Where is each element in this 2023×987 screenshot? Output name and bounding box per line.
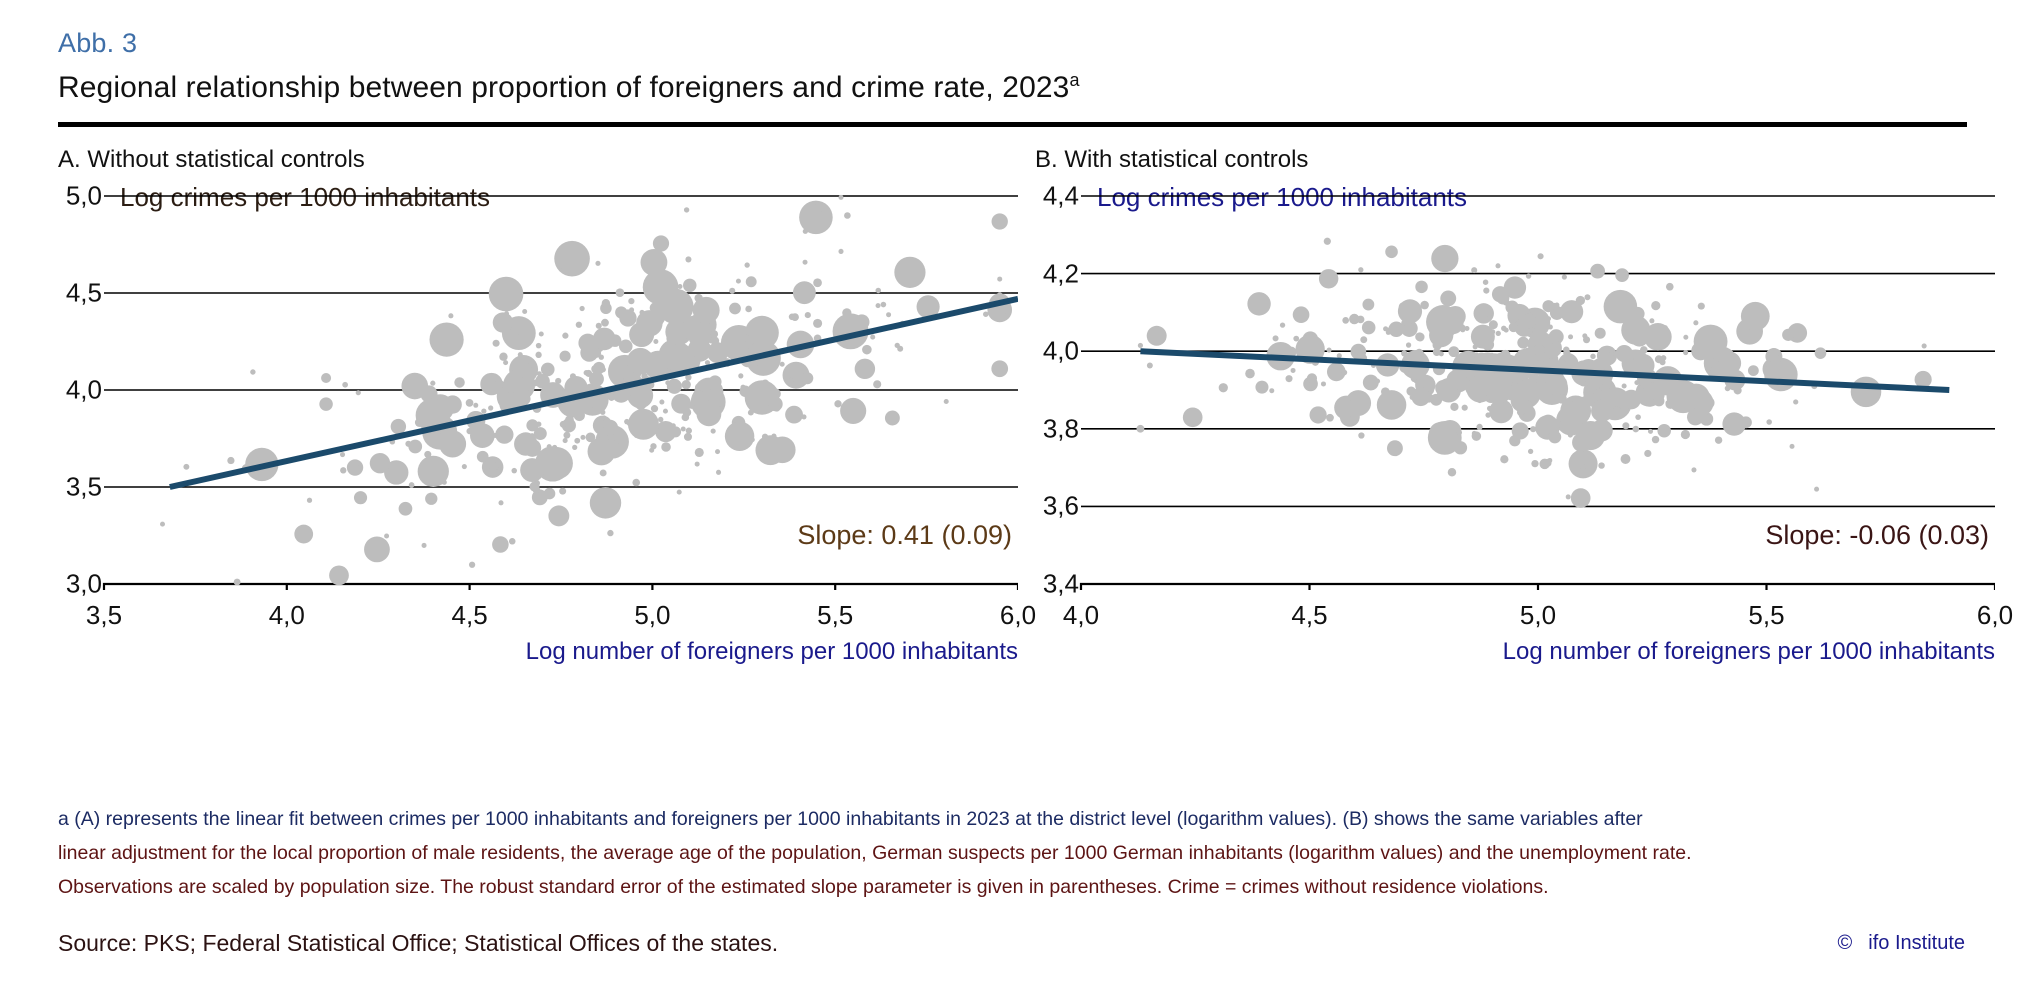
scatter-point	[1362, 299, 1374, 311]
scatter-point	[1622, 422, 1629, 429]
scatter-point	[1280, 322, 1285, 327]
scatter-point	[492, 536, 509, 553]
scatter-point	[1362, 321, 1376, 335]
scatter-point	[1556, 337, 1561, 342]
scatter-point	[593, 328, 616, 351]
scatter-point	[1352, 346, 1361, 355]
scatter-point	[729, 303, 741, 315]
scatter-point	[1345, 400, 1361, 416]
scatter-point	[854, 314, 869, 329]
scatter-point	[1433, 348, 1441, 356]
scatter-point	[601, 367, 606, 372]
scatter-point	[1487, 315, 1492, 320]
scatter-point	[576, 322, 582, 328]
figure-number: Abb. 3	[58, 28, 137, 59]
scatter-point	[1138, 343, 1143, 348]
scatter-point	[1665, 400, 1670, 405]
x-axis-tick-label: 4,0	[269, 600, 305, 631]
scatter-point	[1337, 353, 1342, 358]
scatter-point	[1635, 414, 1641, 420]
scatter-point	[1454, 441, 1467, 454]
scatter-point	[340, 467, 346, 473]
scatter-point	[541, 447, 573, 479]
scatter-point	[745, 306, 752, 313]
scatter-point	[1526, 273, 1531, 278]
scatter-point	[1327, 347, 1332, 352]
scatter-point	[1718, 352, 1741, 375]
scatter-point	[1245, 369, 1255, 379]
scatter-point	[1595, 389, 1602, 396]
scatter-point	[1546, 316, 1551, 321]
scatter-point	[1585, 404, 1590, 409]
scatter-point	[1652, 436, 1659, 443]
scatter-point	[1571, 400, 1580, 409]
scatter-point	[876, 303, 881, 308]
scatter-point	[1562, 274, 1567, 279]
panel-a-slope-annotation: Slope: 0.41 (0.09)	[797, 520, 1012, 551]
scatter-point	[442, 480, 447, 485]
scatter-point	[725, 421, 754, 450]
scatter-point	[477, 451, 489, 463]
scatter-point	[683, 408, 692, 417]
scatter-point	[356, 390, 361, 395]
scatter-point	[689, 404, 694, 409]
y-axis-tick-label: 3,6	[1043, 491, 1079, 522]
y-axis-tick-label: 4,4	[1043, 181, 1079, 212]
scatter-point	[1269, 388, 1274, 393]
scatter-point	[340, 452, 345, 457]
scatter-point	[294, 525, 313, 544]
x-axis-tick-label: 5,5	[1748, 600, 1784, 631]
panel-a-x-axis-title: Log number of foreigners per 1000 inhabi…	[526, 638, 1018, 666]
scatter-point	[1633, 426, 1640, 433]
figure-page: Abb. 3 Regional relationship between pro…	[0, 0, 2023, 987]
scatter-point	[1476, 424, 1482, 430]
scatter-point	[515, 329, 520, 334]
scatter-point	[1653, 366, 1682, 395]
scatter-point	[556, 261, 564, 269]
scatter-point	[601, 427, 610, 436]
scatter-point	[1472, 431, 1477, 436]
scatter-point	[1147, 326, 1167, 346]
scatter-point	[430, 381, 435, 386]
scatter-point	[1584, 294, 1590, 300]
scatter-point	[329, 566, 349, 586]
scatter-point	[1500, 455, 1508, 463]
scatter-point	[1521, 314, 1536, 329]
y-axis-tick-label: 3,4	[1043, 569, 1079, 600]
scatter-point	[562, 333, 568, 339]
scatter-point	[685, 256, 691, 262]
scatter-point	[563, 438, 568, 443]
scatter-point	[1693, 320, 1698, 325]
scatter-point	[319, 397, 332, 410]
scatter-point	[1521, 400, 1532, 411]
scatter-point	[658, 417, 663, 422]
scatter-point	[518, 352, 523, 357]
scatter-point	[1293, 306, 1310, 323]
scatter-point	[616, 288, 625, 297]
scatter-point	[1569, 449, 1598, 478]
scatter-point	[628, 298, 634, 304]
scatter-point	[838, 195, 843, 200]
scatter-point	[590, 395, 604, 409]
scatter-point	[716, 470, 721, 475]
scatter-point	[684, 433, 692, 441]
scatter-point	[1577, 362, 1582, 367]
y-axis-tick-label: 4,0	[1043, 336, 1079, 367]
scatter-point	[399, 502, 413, 516]
scatter-point	[1580, 375, 1587, 382]
scatter-point	[512, 318, 517, 323]
scatter-point	[495, 426, 513, 444]
scatter-point	[1568, 433, 1573, 438]
scatter-point	[1583, 336, 1590, 343]
scatter-point	[1420, 301, 1429, 310]
scatter-point	[530, 482, 540, 492]
scatter-point	[401, 373, 428, 400]
scatter-point	[1548, 325, 1553, 330]
scatter-point	[661, 442, 671, 452]
scatter-point	[517, 363, 532, 378]
scatter-point	[742, 335, 749, 342]
scatter-point	[649, 448, 654, 453]
scatter-point	[1663, 325, 1668, 330]
scatter-point	[1566, 494, 1571, 499]
scatter-point	[408, 440, 422, 454]
scatter-point	[1183, 408, 1203, 428]
scatter-point	[632, 479, 640, 487]
scatter-point	[496, 380, 501, 385]
scatter-point	[1621, 454, 1631, 464]
scatter-point	[183, 464, 189, 470]
scatter-point	[563, 432, 570, 439]
scatter-point	[1501, 326, 1506, 331]
x-axis-tick-label: 6,0	[1000, 600, 1036, 631]
scatter-point	[1775, 355, 1782, 362]
scatter-point	[590, 487, 621, 518]
scatter-point	[409, 482, 415, 488]
scatter-point	[1377, 390, 1407, 420]
scatter-point	[1319, 269, 1338, 288]
title-footnote-marker: a	[1069, 70, 1079, 90]
scatter-point	[1576, 421, 1605, 450]
scatter-point	[1527, 388, 1532, 393]
scatter-point	[424, 451, 431, 458]
panel-a-caption: A. Without statistical controls	[58, 146, 365, 174]
scatter-point	[227, 457, 234, 464]
scatter-point	[1595, 328, 1606, 339]
scatter-point	[844, 212, 851, 219]
scatter-point	[736, 279, 741, 284]
scatter-point	[655, 369, 661, 375]
scatter-point	[1710, 367, 1715, 372]
scatter-point	[422, 543, 427, 548]
scatter-point	[578, 334, 597, 353]
scatter-point	[801, 372, 813, 384]
scatter-point	[1387, 440, 1403, 456]
scatter-point	[600, 470, 607, 477]
scatter-point	[983, 311, 988, 316]
scatter-point	[805, 312, 811, 318]
scatter-point	[391, 419, 406, 434]
scatter-point	[692, 349, 699, 356]
scatter-point	[1681, 430, 1690, 439]
scatter-point	[509, 538, 516, 545]
scatter-point	[658, 289, 694, 325]
scatter-point	[470, 423, 495, 448]
page-title: Regional relationship between proportion…	[58, 70, 1080, 105]
scatter-point	[1748, 365, 1759, 376]
scatter-point	[429, 322, 463, 356]
scatter-point	[1782, 329, 1794, 341]
scatter-point	[1342, 317, 1349, 324]
panel-b-chart: Log crimes per 1000 inhabitants 3,43,63,…	[1035, 190, 1995, 590]
scatter-point	[1496, 331, 1501, 336]
scatter-point	[1543, 459, 1551, 467]
scatter-point	[488, 405, 493, 410]
x-axis-tick-label: 5,0	[634, 600, 670, 631]
scatter-point	[651, 405, 658, 412]
scatter-point	[1307, 373, 1317, 383]
scatter-point	[611, 434, 616, 439]
scatter-point	[560, 351, 571, 362]
scatter-point	[425, 493, 437, 505]
footnote-line-2: linear adjustment for the local proporti…	[58, 844, 1692, 864]
scatter-point	[1360, 336, 1367, 343]
panel-b-slope-annotation: Slope: -0.06 (0.03)	[1765, 520, 1989, 551]
scatter-point	[1471, 325, 1495, 349]
scatter-point	[1654, 396, 1665, 407]
scatter-point	[1293, 336, 1299, 342]
scatter-point	[473, 403, 478, 408]
scatter-point	[1657, 424, 1671, 438]
scatter-point	[840, 398, 866, 424]
scatter-point	[1457, 430, 1462, 435]
scatter-point	[1556, 359, 1566, 369]
scatter-point	[762, 434, 768, 440]
scatter-point	[536, 343, 542, 349]
scatter-point	[601, 319, 609, 327]
scatter-point	[992, 213, 1008, 229]
scatter-point	[1715, 436, 1722, 443]
scatter-point	[1342, 370, 1348, 376]
scatter-point	[498, 466, 503, 471]
scatter-point	[565, 415, 574, 424]
scatter-point	[677, 490, 682, 495]
scatter-point	[670, 426, 681, 437]
scatter-point	[663, 409, 668, 414]
scatter-point	[1273, 335, 1279, 341]
scatter-point	[1764, 358, 1797, 391]
y-axis-tick-label: 3,8	[1043, 413, 1079, 444]
panel-a-chart: Log crimes per 1000 inhabitants 3,03,54,…	[58, 190, 1018, 590]
scatter-point	[1590, 264, 1605, 279]
scatter-point	[1363, 375, 1379, 391]
scatter-point	[1559, 416, 1565, 422]
scatter-point	[1790, 444, 1795, 449]
scatter-point	[580, 306, 585, 311]
scatter-point	[1591, 400, 1613, 422]
scatter-point	[886, 312, 891, 317]
scatter-point	[1851, 377, 1882, 408]
scatter-point	[1528, 449, 1533, 454]
scatter-point	[384, 533, 389, 538]
scatter-point	[1310, 406, 1327, 423]
scatter-point	[885, 411, 900, 426]
copyright-icon: ©	[1838, 932, 1853, 954]
scatter-point	[1682, 384, 1710, 412]
scatter-point	[803, 229, 808, 234]
scatter-point	[466, 399, 474, 407]
scatter-point	[1495, 263, 1500, 268]
scatter-point	[744, 262, 749, 267]
scatter-point	[792, 315, 797, 320]
scatter-point	[705, 396, 710, 401]
scatter-point	[738, 373, 743, 378]
scatter-point	[1598, 462, 1604, 468]
scatter-point	[354, 491, 367, 504]
scatter-point	[596, 323, 602, 329]
scatter-point	[469, 562, 475, 568]
y-axis-tick-label: 4,0	[66, 375, 102, 406]
scatter-point	[439, 430, 466, 457]
scatter-point	[1649, 318, 1654, 323]
scatter-point	[1542, 300, 1554, 312]
scatter-point	[1431, 245, 1458, 272]
scatter-point	[608, 394, 615, 401]
scatter-point	[1533, 344, 1545, 356]
scatter-point	[1531, 376, 1537, 382]
scatter-point	[1358, 432, 1364, 438]
scatter-point	[1492, 286, 1508, 302]
scatter-point	[1381, 387, 1390, 396]
scatter-point	[1517, 337, 1529, 349]
scatter-point	[897, 346, 903, 352]
scatter-point	[1568, 334, 1573, 339]
scatter-point	[1386, 330, 1391, 335]
scatter-point	[589, 372, 604, 387]
scatter-point	[682, 380, 691, 389]
scatter-point	[665, 380, 670, 385]
scatter-point	[1815, 347, 1827, 359]
scatter-point	[574, 438, 580, 444]
credit-label: ifo Institute	[1868, 932, 1965, 954]
y-axis-tick-label: 3,0	[66, 569, 102, 600]
scatter-point	[1922, 343, 1927, 348]
scatter-point	[1291, 368, 1296, 373]
scatter-point	[653, 235, 669, 251]
scatter-point	[1571, 488, 1591, 508]
scatter-point	[514, 432, 537, 455]
x-axis-line	[104, 584, 1018, 590]
scatter-point	[653, 339, 658, 344]
scatter-point	[584, 370, 589, 375]
scatter-point	[1415, 281, 1428, 294]
scatter-point	[160, 522, 165, 527]
scatter-point	[1814, 487, 1819, 492]
scatter-point	[780, 362, 785, 367]
scatter-point	[489, 277, 524, 312]
x-axis-tick-label: 3,5	[86, 600, 122, 631]
scatter-point	[1382, 355, 1387, 360]
scatter-point	[1580, 464, 1585, 469]
x-axis-tick-label: 4,5	[452, 600, 488, 631]
scatter-point	[580, 435, 585, 440]
scatter-point	[710, 330, 718, 338]
scatter-point	[364, 537, 390, 563]
scatter-point	[834, 400, 841, 407]
scatter-point	[695, 384, 702, 391]
scatter-point	[1416, 349, 1423, 356]
scatter-point	[1742, 336, 1747, 341]
scatter-point	[493, 340, 500, 347]
scatter-point	[746, 276, 757, 287]
scatter-point	[1406, 342, 1411, 347]
scatter-point	[535, 374, 550, 389]
scatter-point	[769, 437, 796, 464]
scatter-point	[715, 449, 720, 454]
scatter-point	[881, 302, 887, 308]
scatter-point	[1286, 375, 1293, 382]
scatter-point	[342, 382, 348, 388]
scatter-point	[717, 402, 722, 407]
scatter-point	[595, 261, 600, 266]
scatter-point	[682, 335, 687, 340]
footnote-line-3: Observations are scaled by population si…	[58, 878, 1549, 898]
scatter-point	[1691, 467, 1696, 472]
scatter-point	[1644, 450, 1651, 457]
scatter-point	[1666, 283, 1674, 291]
scatter-point	[559, 488, 566, 495]
scatter-point	[1324, 238, 1331, 245]
scatter-point	[813, 319, 822, 328]
scatter-point	[894, 257, 925, 288]
x-axis-tick-label: 5,0	[1520, 600, 1556, 631]
scatter-point	[1443, 314, 1463, 334]
scatter-point	[503, 360, 508, 365]
scatter-point	[619, 309, 636, 326]
scatter-point	[1551, 375, 1567, 391]
scatter-point	[628, 409, 659, 440]
scatter-point	[602, 420, 607, 425]
scatter-point	[793, 281, 816, 304]
y-axis-tick-label: 5,0	[66, 181, 102, 212]
scatter-point	[1247, 292, 1270, 315]
scatter-point	[1415, 332, 1424, 341]
scatter-point	[1512, 422, 1529, 439]
scatter-point	[354, 464, 359, 469]
scatter-point	[1648, 429, 1653, 434]
scatter-point	[602, 299, 610, 307]
scatter-point	[481, 409, 486, 414]
scatter-point	[1683, 335, 1688, 340]
scatter-point	[1613, 406, 1622, 415]
scatter-point	[1406, 386, 1415, 395]
scatter-point	[499, 353, 507, 361]
scatter-point	[1615, 268, 1629, 282]
scatter-point	[549, 368, 554, 373]
scatter-point	[520, 458, 544, 482]
scatter-point	[462, 464, 467, 469]
scatter-point	[548, 505, 569, 526]
scatter-point	[1137, 425, 1145, 433]
scatter-point	[1349, 314, 1359, 324]
scatter-point	[870, 335, 875, 340]
scatter-point	[768, 397, 782, 411]
x-axis-tick-label: 4,0	[1063, 600, 1099, 631]
scatter-point	[813, 278, 822, 287]
